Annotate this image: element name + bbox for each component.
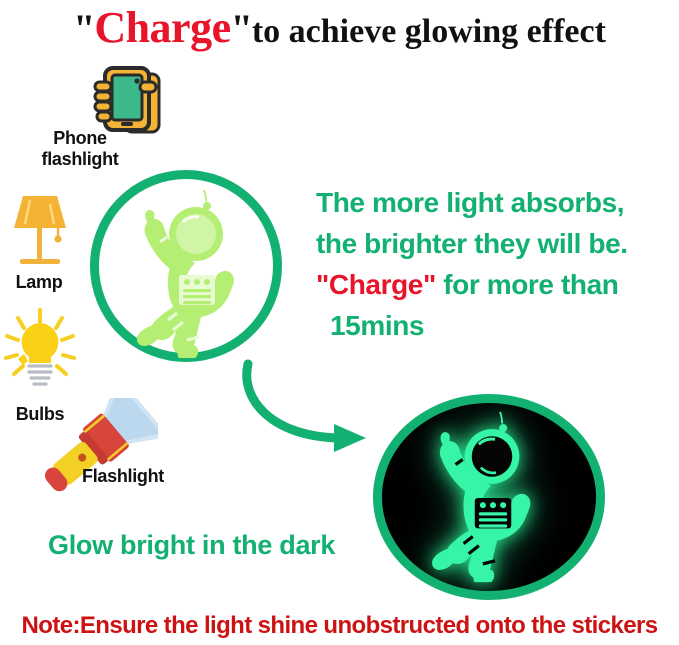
source-label-phone: Phone flashlight — [10, 128, 150, 170]
title-charge-word: Charge — [94, 3, 230, 52]
paragraph-line-3-rest: for more than — [436, 269, 619, 300]
source-label-phone-line2: flashlight — [10, 149, 150, 170]
paragraph-line-4: 15mins — [316, 305, 679, 346]
title-quote-close: " — [231, 6, 252, 51]
bottom-note: Note:Ensure the light shine unobstructed… — [0, 612, 679, 640]
title-quote-open: " — [73, 6, 94, 51]
benefit-paragraph: The more light absorbs, the brighter the… — [316, 182, 679, 346]
paragraph-line-2: the brighter they will be. — [316, 223, 679, 264]
source-label-flashlight: Flashlight — [82, 466, 212, 487]
paragraph-line-1: The more light absorbs, — [316, 182, 679, 223]
paragraph-charge-word: "Charge" — [316, 269, 436, 300]
astronaut-sticker-glowing — [416, 407, 568, 587]
paragraph-line-3: "Charge" for more than — [316, 264, 679, 305]
paragraph-duration: 15mins — [316, 305, 424, 346]
astronaut-sticker-daylight — [121, 189, 271, 359]
source-label-phone-line1: Phone — [10, 128, 150, 149]
sticker-daylight-circle — [90, 170, 282, 362]
glow-caption: Glow bright in the dark — [48, 530, 388, 561]
sticker-glow-circle — [373, 394, 605, 600]
source-label-lamp: Lamp — [0, 272, 78, 293]
page-title: "Charge"to achieve glowing effect — [0, 4, 679, 52]
poster-canvas: "Charge"to achieve glowing effect Phone … — [0, 0, 679, 645]
curved-arrow-icon — [230, 340, 390, 460]
title-rest: to achieve glowing effect — [252, 13, 606, 50]
light-bulb-icon — [2, 308, 78, 390]
lamp-icon — [6, 188, 74, 272]
